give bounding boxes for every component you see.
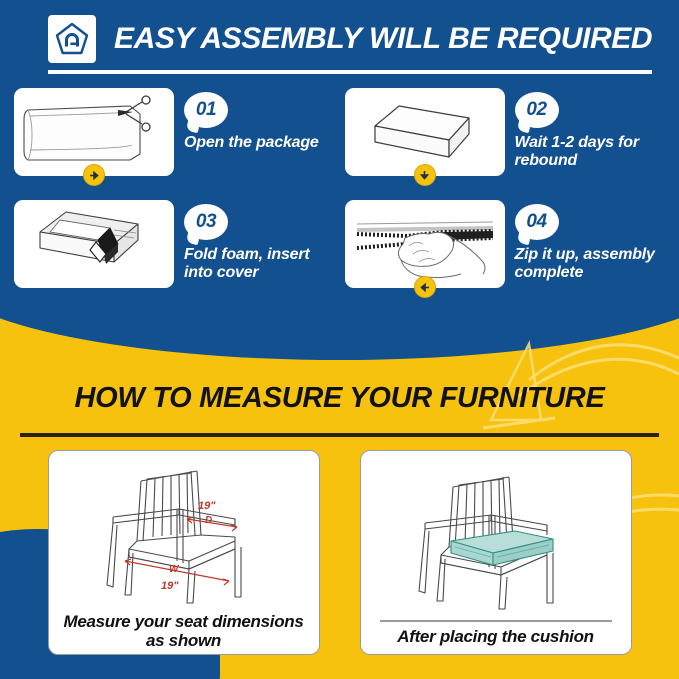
depth-value-label: 19" xyxy=(198,500,216,512)
measure-card-left-illustration: 19" D W 19" xyxy=(59,457,309,607)
step-03-number-bubble: 03 xyxy=(184,204,228,240)
measure-card-right: After placing the cushion xyxy=(360,450,632,655)
width-letter-label: W xyxy=(169,564,180,575)
step-03-label: Fold foam, insert into cover xyxy=(184,246,335,282)
step-01: 01 Open the package xyxy=(14,88,335,176)
step-02-text: 02 Wait 1-2 days for rebound xyxy=(515,88,666,170)
hand-zipping-zipper-icon xyxy=(345,200,505,288)
step-02-number: 02 xyxy=(526,99,546,121)
step-03: 03 Fold foam, insert into cover xyxy=(14,200,335,288)
step-04: 04 Zip it up, assembly complete xyxy=(345,200,666,288)
chair-with-measurements-icon: 19" D W 19" xyxy=(69,457,299,607)
measure-card-right-divider xyxy=(380,620,612,622)
step-03-text: 03 Fold foam, insert into cover xyxy=(184,200,335,282)
step-03-card xyxy=(14,200,174,288)
depth-letter-label: D xyxy=(205,515,212,526)
assembly-steps: 01 Open the package 02 xyxy=(0,88,679,288)
poster-header: EASY ASSEMBLY WILL BE REQUIRED xyxy=(0,0,679,78)
step-04-text: 04 Zip it up, assembly complete xyxy=(515,200,666,282)
measure-section-title: HOW TO MEASURE YOUR FURNITURE xyxy=(0,382,679,415)
rolled-package-with-scissors-icon xyxy=(14,88,174,176)
step-03-number: 03 xyxy=(196,211,216,233)
step-01-text: 01 Open the package xyxy=(184,88,319,152)
header-divider xyxy=(48,70,652,74)
foam-slab-icon xyxy=(345,88,505,176)
step-04-card xyxy=(345,200,505,288)
step-01-label: Open the package xyxy=(184,134,319,152)
step-02-number-bubble: 02 xyxy=(515,92,559,128)
house-logo-icon xyxy=(48,15,96,63)
step-01-number-bubble: 01 xyxy=(184,92,228,128)
step-01-number: 01 xyxy=(196,99,216,121)
measure-card-right-caption: After placing the cushion xyxy=(397,627,594,646)
arrow-left-icon xyxy=(414,276,436,298)
measure-card-left-caption: Measure your seat dimensions as shown xyxy=(59,612,309,651)
step-04-number-bubble: 04 xyxy=(515,204,559,240)
measure-title-divider xyxy=(20,433,659,437)
infographic-poster: EASY ASSEMBLY WILL BE REQUIRED xyxy=(0,0,679,679)
measure-cards: 19" D W 19" Measure your seat dimensions… xyxy=(0,450,679,655)
measure-card-right-illustration xyxy=(371,457,621,620)
step-04-number: 04 xyxy=(526,211,546,233)
page-title: EASY ASSEMBLY WILL BE REQUIRED xyxy=(114,22,652,56)
step-01-card xyxy=(14,88,174,176)
foam-folded-into-cover-icon xyxy=(14,200,174,288)
step-04-label: Zip it up, assembly complete xyxy=(515,246,666,282)
arrow-down-icon xyxy=(414,164,436,186)
step-02-card xyxy=(345,88,505,176)
chair-with-cushion-icon xyxy=(381,463,611,613)
arrow-right-icon xyxy=(83,164,105,186)
step-02: 02 Wait 1-2 days for rebound xyxy=(345,88,666,176)
width-value-label: 19" xyxy=(161,580,179,592)
step-02-label: Wait 1-2 days for rebound xyxy=(515,134,666,170)
measure-card-left: 19" D W 19" Measure your seat dimensions… xyxy=(48,450,320,655)
